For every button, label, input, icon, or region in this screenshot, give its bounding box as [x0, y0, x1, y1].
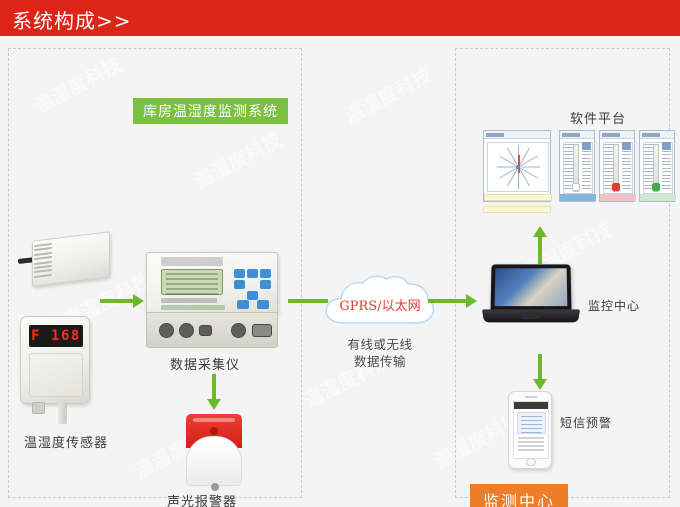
- page-title: 系统构成>>: [12, 5, 132, 34]
- phone-message-text: [518, 437, 544, 453]
- phone-status-bar: [514, 402, 549, 409]
- keypad-button-c[interactable]: [237, 300, 249, 309]
- radial-hub: [516, 165, 520, 169]
- keypad-button-left[interactable]: [234, 280, 245, 289]
- keypad-button-d[interactable]: [257, 300, 269, 309]
- transmission-line-2: 数据传输: [316, 353, 444, 370]
- sound-light-alarm: [186, 414, 242, 486]
- phone-shell: [508, 391, 552, 469]
- thermo-titlebar: [640, 131, 674, 139]
- radial-gauge-panel: [483, 130, 551, 202]
- phone-speaker: [525, 396, 537, 398]
- laptop-caption: 监控中心: [588, 297, 640, 314]
- thermo-bulb: [572, 183, 580, 191]
- keypad-button-a[interactable]: [260, 269, 271, 278]
- gauge-footer-stripe-2: [483, 206, 551, 213]
- keypad-button-right[interactable]: [260, 280, 271, 289]
- sensor-vents: [34, 243, 52, 285]
- header-banner: 系统构成>>: [0, 0, 680, 36]
- radial-dial: [487, 142, 549, 192]
- data-collector-device: [146, 252, 278, 348]
- transmission-line-1: 有线或无线: [316, 336, 444, 353]
- thermo-titlebar: [560, 131, 594, 139]
- system-architecture-diagram: 系统构成>> 温湿度科技 温湿度科技 温湿度科技 温湿度科技 温湿度科技 温湿度…: [0, 0, 680, 507]
- thermo-badge-icon: [582, 142, 591, 150]
- gauge-titlebar: [484, 131, 550, 139]
- gauge-footer-stripe-1: [484, 194, 552, 201]
- laptop-screen: [495, 268, 568, 306]
- keypad-button-b[interactable]: [234, 269, 245, 278]
- thermometer-panel-3: [639, 130, 675, 202]
- thermo-bulb: [612, 183, 620, 191]
- arrow-center-to-platform: [533, 226, 547, 264]
- collector-brand-mark: [161, 257, 223, 266]
- collector-model-text: [161, 298, 217, 303]
- collector-keypad: [233, 269, 273, 309]
- arrow-center-to-phone: [533, 354, 547, 390]
- alarm-speaker-dot: [211, 483, 219, 491]
- sensor-led-screen: F 168: [29, 325, 83, 347]
- collector-port-3: [199, 325, 212, 336]
- phone-message-bubble: [517, 412, 546, 434]
- collector-caption: 数据采集仪: [170, 354, 240, 373]
- collector-port-2: [179, 323, 194, 338]
- collector-port-4: [231, 323, 246, 338]
- diagram-canvas: 温湿度科技 温湿度科技 温湿度科技 温湿度科技 温湿度科技 温湿度科技 温湿度科…: [0, 36, 680, 507]
- sensor-caption: 温湿度传感器: [24, 432, 108, 451]
- collector-front-panel: [146, 312, 278, 348]
- sensor-probe: [58, 402, 67, 424]
- arrow-collector-to-alarm: [207, 374, 221, 410]
- thermo-titlebar: [600, 131, 634, 139]
- alarm-caption: 声光报警器: [167, 491, 237, 507]
- watermark: 温湿度科技: [339, 60, 436, 128]
- thermo-scale-right: [582, 144, 591, 192]
- thermo-bulb: [652, 183, 660, 191]
- keypad-button-down[interactable]: [247, 291, 258, 300]
- sensor-led-value: F 168: [31, 328, 81, 344]
- network-cloud: GPRS/以太网: [318, 273, 442, 335]
- thermo-badge-icon: [622, 142, 631, 150]
- system-tag-label: 库房温湿度监测系统: [133, 98, 288, 124]
- collector-company-text: [161, 305, 225, 310]
- monitoring-center-tag: 监测中心: [470, 484, 568, 507]
- collector-top-face: [146, 252, 278, 314]
- sensor-case: F 168: [20, 316, 90, 404]
- thermo-base-bar: [640, 194, 676, 201]
- alarm-lens-dot: [210, 427, 218, 435]
- radial-needle: [518, 155, 520, 173]
- wall-mount-sensor: [18, 232, 114, 294]
- phone-home-button[interactable]: [526, 458, 536, 466]
- transmission-caption: 有线或无线 数据传输: [316, 336, 444, 370]
- cloud-label: GPRS/以太网: [318, 295, 442, 314]
- phone-screen: [513, 401, 549, 459]
- sms-alert-phone: [508, 391, 552, 469]
- thermometer-panel-2: [599, 130, 635, 202]
- arrow-sensor-to-collector: [100, 294, 144, 308]
- thermometer-panel-1: [559, 130, 595, 202]
- keypad-button-up[interactable]: [247, 269, 258, 278]
- led-display-sensor: F 168: [20, 316, 98, 424]
- thermo-base-bar: [560, 194, 596, 201]
- thermo-badge-icon: [662, 142, 671, 150]
- thermo-base-bar: [600, 194, 636, 201]
- collector-port-1: [159, 323, 174, 338]
- sensor-faceplate: [29, 353, 83, 397]
- software-platform-dashboard: [483, 130, 669, 214]
- collector-serial-port: [252, 324, 272, 337]
- laptop-trackpad: [521, 314, 541, 319]
- monitoring-laptop: [483, 264, 579, 326]
- laptop-lid: [490, 264, 571, 312]
- collector-lcd-screen: [161, 269, 223, 295]
- sensor-cable-gland: [32, 402, 45, 414]
- platform-caption: 软件平台: [570, 108, 626, 127]
- thermo-scale-right: [622, 144, 631, 192]
- phone-caption: 短信预警: [560, 414, 612, 431]
- alarm-white-body: [186, 436, 242, 486]
- thermo-scale-right: [662, 144, 671, 192]
